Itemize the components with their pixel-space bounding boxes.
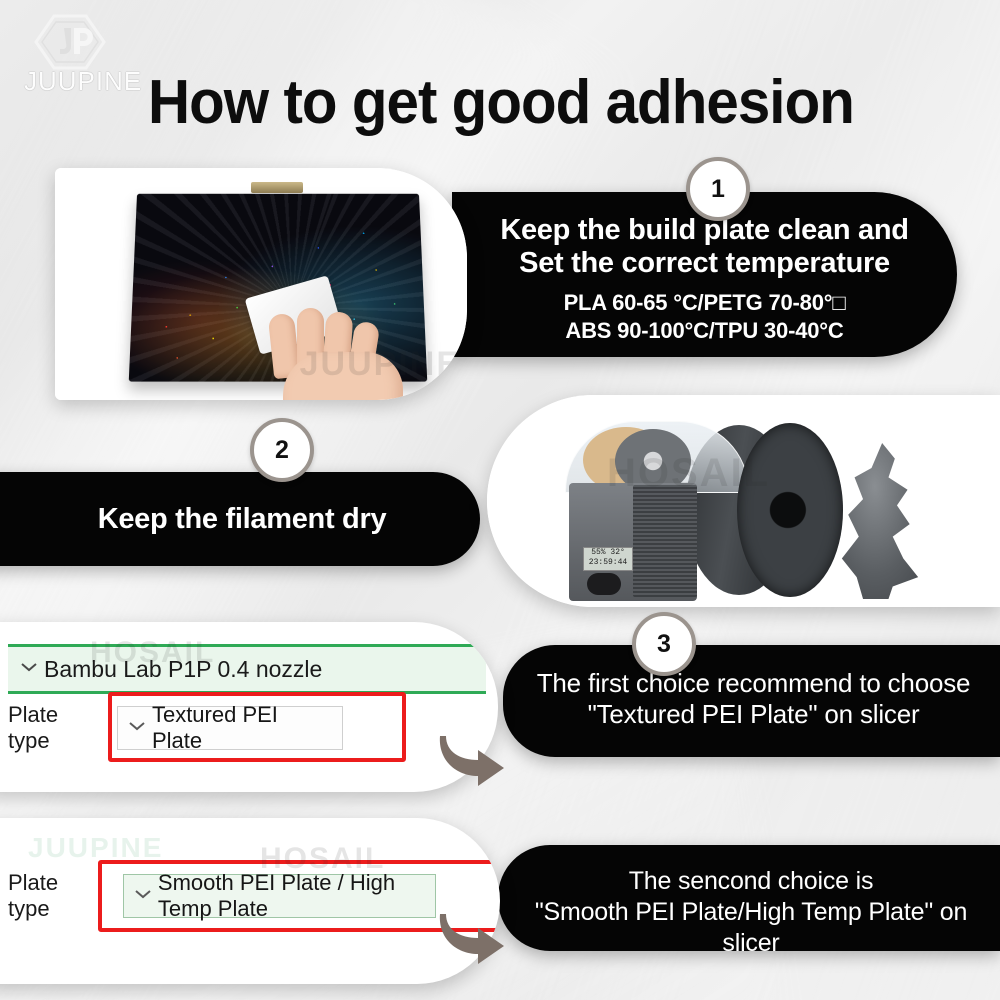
plate-type-label: Plate type: [8, 870, 95, 922]
printer-profile-header[interactable]: Bambu Lab P1P 0.4 nozzle: [8, 644, 486, 694]
step-3-panel: The first choice recommend to choose "Te…: [503, 645, 1000, 757]
slicer-screenshot-first: HOSAIL Bambu Lab P1P 0.4 nozzle Plate ty…: [0, 622, 498, 792]
slicer-screenshot-second: JUUPINE HOSAIL Plate type Smooth PEI Pla…: [0, 818, 500, 984]
step-4-panel: The sencond choice is "Smooth PEI Plate/…: [498, 845, 1000, 951]
printer-profile-name: Bambu Lab P1P 0.4 nozzle: [44, 656, 322, 683]
dryer-lcd-display: 55% 32° 23:59:44: [583, 547, 633, 571]
step-1-title-line-1: Keep the build plate clean and: [452, 214, 957, 247]
dryer-lcd-line-2: 23:59:44: [584, 558, 632, 568]
filament-spool-face: [737, 423, 843, 597]
step-3-title-line-1: The first choice recommend to choose: [517, 668, 990, 699]
step-2-photo: 55% 32° 23:59:44 HOSAIL: [487, 395, 1000, 607]
step-3-number: 3: [657, 630, 671, 659]
step-2-panel: Keep the filament dry: [0, 472, 480, 566]
step-2-title: Keep the filament dry: [0, 472, 480, 566]
chevron-down-icon: [20, 660, 38, 678]
step-2-number-badge: 2: [250, 418, 314, 482]
step-1-number-badge: 1: [686, 157, 750, 221]
build-plate-handle-icon: [251, 182, 303, 193]
curved-arrow-cursor-icon: [428, 908, 508, 977]
step-1-title-line-2: Set the correct temperature: [452, 247, 957, 280]
build-plate-photo: JUUPINE: [55, 168, 467, 400]
printed-figurine: [827, 443, 933, 599]
step-3-title-line-2: "Textured PEI Plate" on slicer: [517, 699, 990, 730]
hand: [267, 308, 407, 400]
step-1-number: 1: [711, 175, 725, 204]
page-title: How to get good adhesion: [148, 72, 928, 134]
step-2-number: 2: [275, 436, 289, 465]
step-1-temperature-line-2: ABS 90-100°C/TPU 30-40°C: [452, 317, 957, 344]
highlight-box-plate-type: [108, 692, 406, 762]
step-1-photo: JUUPINE: [55, 168, 467, 400]
dryer-knob: [587, 573, 621, 595]
hexagon-jp-logo-icon: [24, 14, 116, 70]
plate-type-label: Plate type: [8, 702, 92, 754]
dryer-vent-mesh: [633, 485, 697, 597]
step-4-title-line-1: The sencond choice is: [508, 866, 994, 897]
step-1-temperature-line-1: PLA 60-65 °C/PETG 70-80°□: [452, 289, 957, 316]
dryer-lcd-line-1: 55% 32°: [584, 548, 632, 558]
infographic-canvas: JUUPINE How to get good adhesion Keep th…: [0, 0, 1000, 1000]
curved-arrow-cursor-icon: [428, 730, 508, 799]
step-4-title-line-2: "Smooth PEI Plate/High Temp Plate" on sl…: [508, 897, 994, 959]
step-3-number-badge: 3: [632, 612, 696, 676]
filament-dryer-photo: 55% 32° 23:59:44 HOSAIL: [487, 395, 1000, 607]
